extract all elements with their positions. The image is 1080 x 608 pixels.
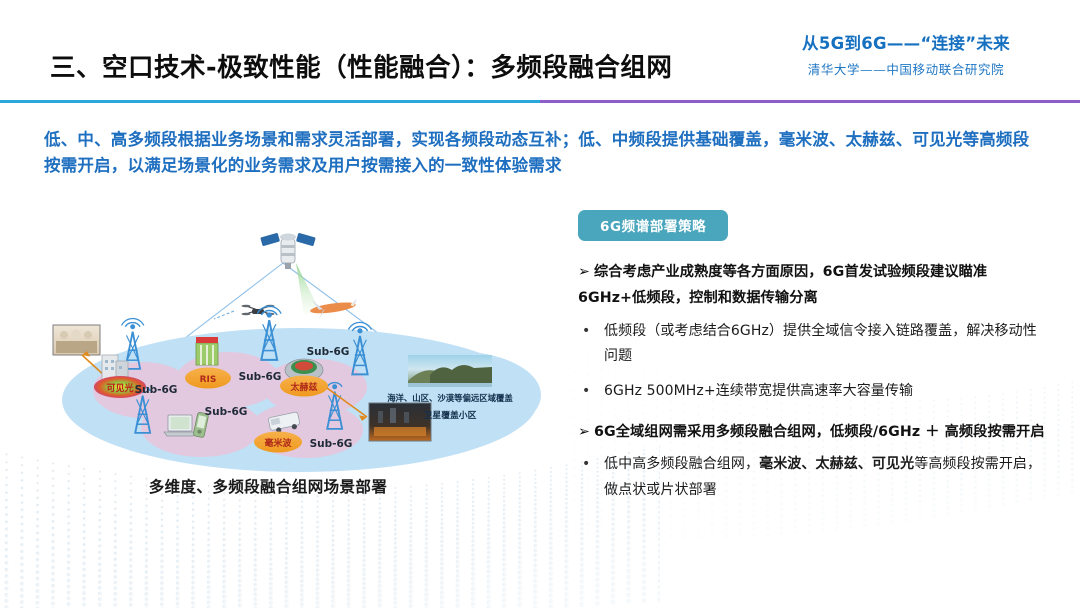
cell-label-sub6g: Sub-6G <box>205 406 248 418</box>
brand-main-title: 从5G到6G——“连接”未来 <box>756 34 1056 55</box>
diagram-caption: 多维度、多频段融合组网场景部署 <box>38 475 498 497</box>
header-divider <box>0 100 1080 103</box>
bullet-head: ➢6G全域组网需采用多频段融合组网，低频段/6GHz ＋ 高频段按需开启 <box>578 419 1048 445</box>
cell-label-sub6g: Sub-6G <box>307 346 350 358</box>
cell-label-sub6g: Sub-6G <box>310 438 353 450</box>
cell-label-sub6g: Sub-6G <box>135 384 178 396</box>
bullet-text: 综合考虑产业成熟度等各方面原因，6G首发试验频段建议瞄准6GHz+低频段，控制和… <box>578 264 987 306</box>
bullet-item: •低中高多频段融合组网，毫米波、太赫兹、可见光等高频段按需开启，做点状或片状部署 <box>578 452 1048 504</box>
bullet-list: ➢综合考虑产业成熟度等各方面原因，6G首发试验频段建议瞄准6GHz+低频段，控制… <box>578 259 1048 504</box>
brand-subtitle: 清华大学——中国移动联合研究院 <box>756 59 1056 78</box>
arrow-marker-icon: ➢ <box>578 424 590 440</box>
bullet-text: 低中高多频段融合组网，毫米波、太赫兹、可见光等高频段按需开启，做点状或片状部署 <box>604 456 1041 498</box>
satellite-icon <box>260 233 316 269</box>
bullet-item: •低频段（或考虑结合6GHz）提供全域信令接入链路覆盖，解决移动性问题 <box>578 319 1048 371</box>
spectrum-strategy-panel: 6G频谱部署策略 ➢综合考虑产业成熟度等各方面原因，6G首发试验频段建议瞄准6G… <box>578 210 1048 513</box>
remote-area-thumbnail <box>408 355 492 387</box>
satellite-coverage-label-2: 卫星覆盖小区 <box>424 409 477 421</box>
band-chip-label: RIS <box>200 375 217 385</box>
slide: 三、空口技术-极致性能（性能融合）：多频段融合组网 从5G到6G——“连接”未来… <box>0 0 1080 608</box>
band-chip-label: 可见光 <box>106 382 133 394</box>
bullet-text: 低频段（或考虑结合6GHz）提供全域信令接入链路覆盖，解决移动性问题 <box>604 323 1037 365</box>
panel-badge: 6G频谱部署策略 <box>578 210 728 241</box>
indoor-scene-thumbnail <box>53 325 100 355</box>
divider-segment-left <box>0 100 540 103</box>
bullet-dot-icon: • <box>582 452 590 478</box>
satellite-coverage-label-1: 海洋、山区、沙漠等偏远区域覆盖 <box>387 393 513 403</box>
bullet-head: ➢综合考虑产业成熟度等各方面原因，6G首发试验频段建议瞄准6GHz+低频段，控制… <box>578 259 1048 312</box>
divider-segment-right <box>540 100 1080 103</box>
slide-header: 三、空口技术-极致性能（性能融合）：多频段融合组网 从5G到6G——“连接”未来… <box>0 0 1080 104</box>
lead-paragraph: 低、中、高多频段根据业务场景和需求灵活部署，实现各频段动态互补；低、中频段提供基… <box>44 127 1044 179</box>
bullet-text: 6GHz 500MHz+连续带宽提供高速率大容量传输 <box>604 383 913 399</box>
city-scene-thumbnail <box>369 403 431 441</box>
laptop-icon <box>164 415 196 436</box>
brand-block: 从5G到6G——“连接”未来 清华大学——中国移动联合研究院 <box>756 34 1056 78</box>
cell-label-sub6g: Sub-6G <box>239 371 282 383</box>
network-scenario-diagram: 可见光 Sub-6G RIS Sub-6G 太赫兹 Sub-6G <box>38 215 558 515</box>
bullet-text: 6G全域组网需采用多频段融合组网，低频段/6GHz ＋ 高频段按需开启 <box>594 424 1045 440</box>
bullet-dot-icon: • <box>582 379 590 405</box>
bullet-dot-icon: • <box>582 319 590 345</box>
bullet-item: •6GHz 500MHz+连续带宽提供高速率大容量传输 <box>578 379 1048 405</box>
band-chip-label: 毫米波 <box>264 437 292 449</box>
ris-building-icon <box>196 337 218 365</box>
arrow-marker-icon: ➢ <box>578 264 590 280</box>
page-title: 三、空口技术-极致性能（性能融合）：多频段融合组网 <box>50 47 672 84</box>
band-chip-label: 太赫兹 <box>289 381 317 393</box>
